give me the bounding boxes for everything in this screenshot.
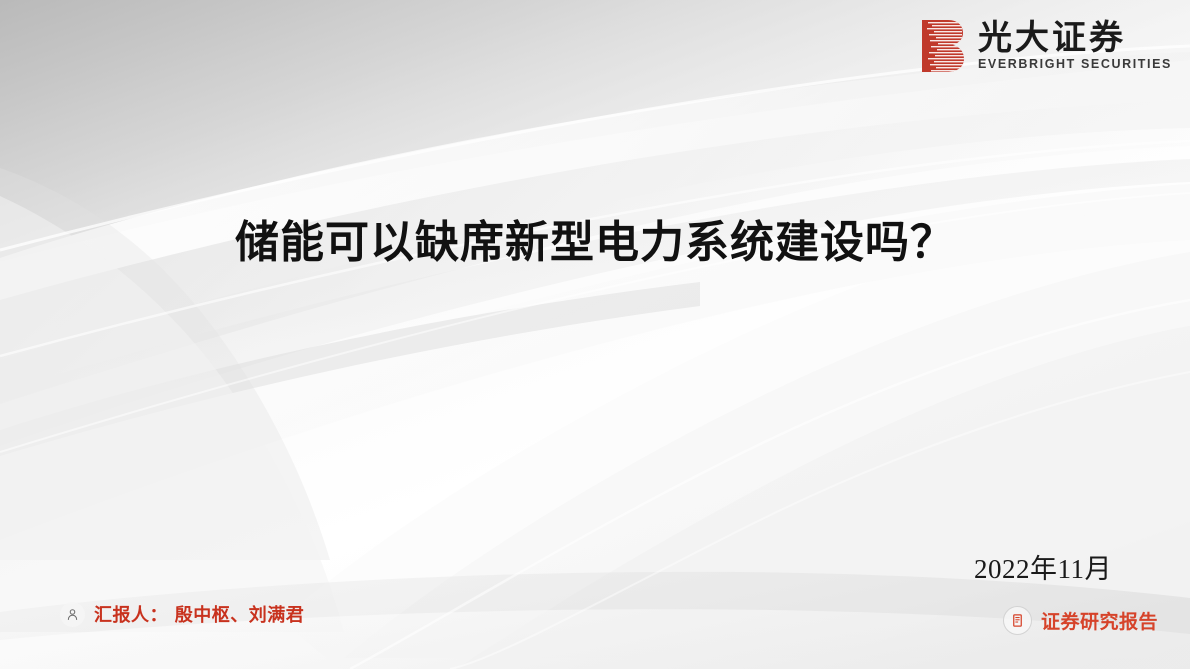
brand-name-cn: 光大证券 [978, 21, 1126, 55]
report-badge-label: 证券研究报告 [1041, 607, 1158, 634]
report-document-icon [1003, 606, 1032, 635]
page-title: 储能可以缺席新型电力系统建设吗？ [0, 206, 1190, 270]
title-slide: 光大证券 EVERBRIGHT SECURITIES 储能可以缺席新型电力系统建… [0, 0, 1190, 669]
everbright-e-logo-icon [918, 18, 964, 74]
person-icon [60, 602, 85, 627]
presenter-label: 汇报人： 殷中枢、刘满君 [94, 601, 304, 627]
brand-logo: 光大证券 EVERBRIGHT SECURITIES [918, 18, 1172, 74]
brand-name-en: EVERBRIGHT SECURITIES [978, 58, 1172, 71]
slide-date: 2022年11月 [974, 547, 1112, 586]
presenter-line: 汇报人： 殷中枢、刘满君 [60, 601, 304, 627]
brand-wordmark: 光大证券 EVERBRIGHT SECURITIES [978, 21, 1172, 71]
report-badge: 证券研究报告 [1003, 606, 1158, 635]
